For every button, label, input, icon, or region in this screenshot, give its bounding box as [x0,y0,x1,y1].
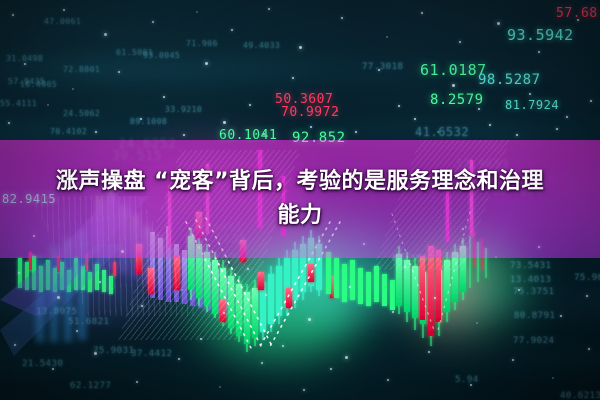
banner-image: 93.594261.018798.52878.257981.792457.685… [0,0,600,400]
headline-line-1: 涨声操盘 “宠客”背后，考验的是服务理念和治理 [56,168,544,196]
headline-line-2: 能力 [277,202,322,230]
headline-text-block: 涨声操盘 “宠客”背后，考验的是服务理念和治理 能力 [0,140,600,258]
